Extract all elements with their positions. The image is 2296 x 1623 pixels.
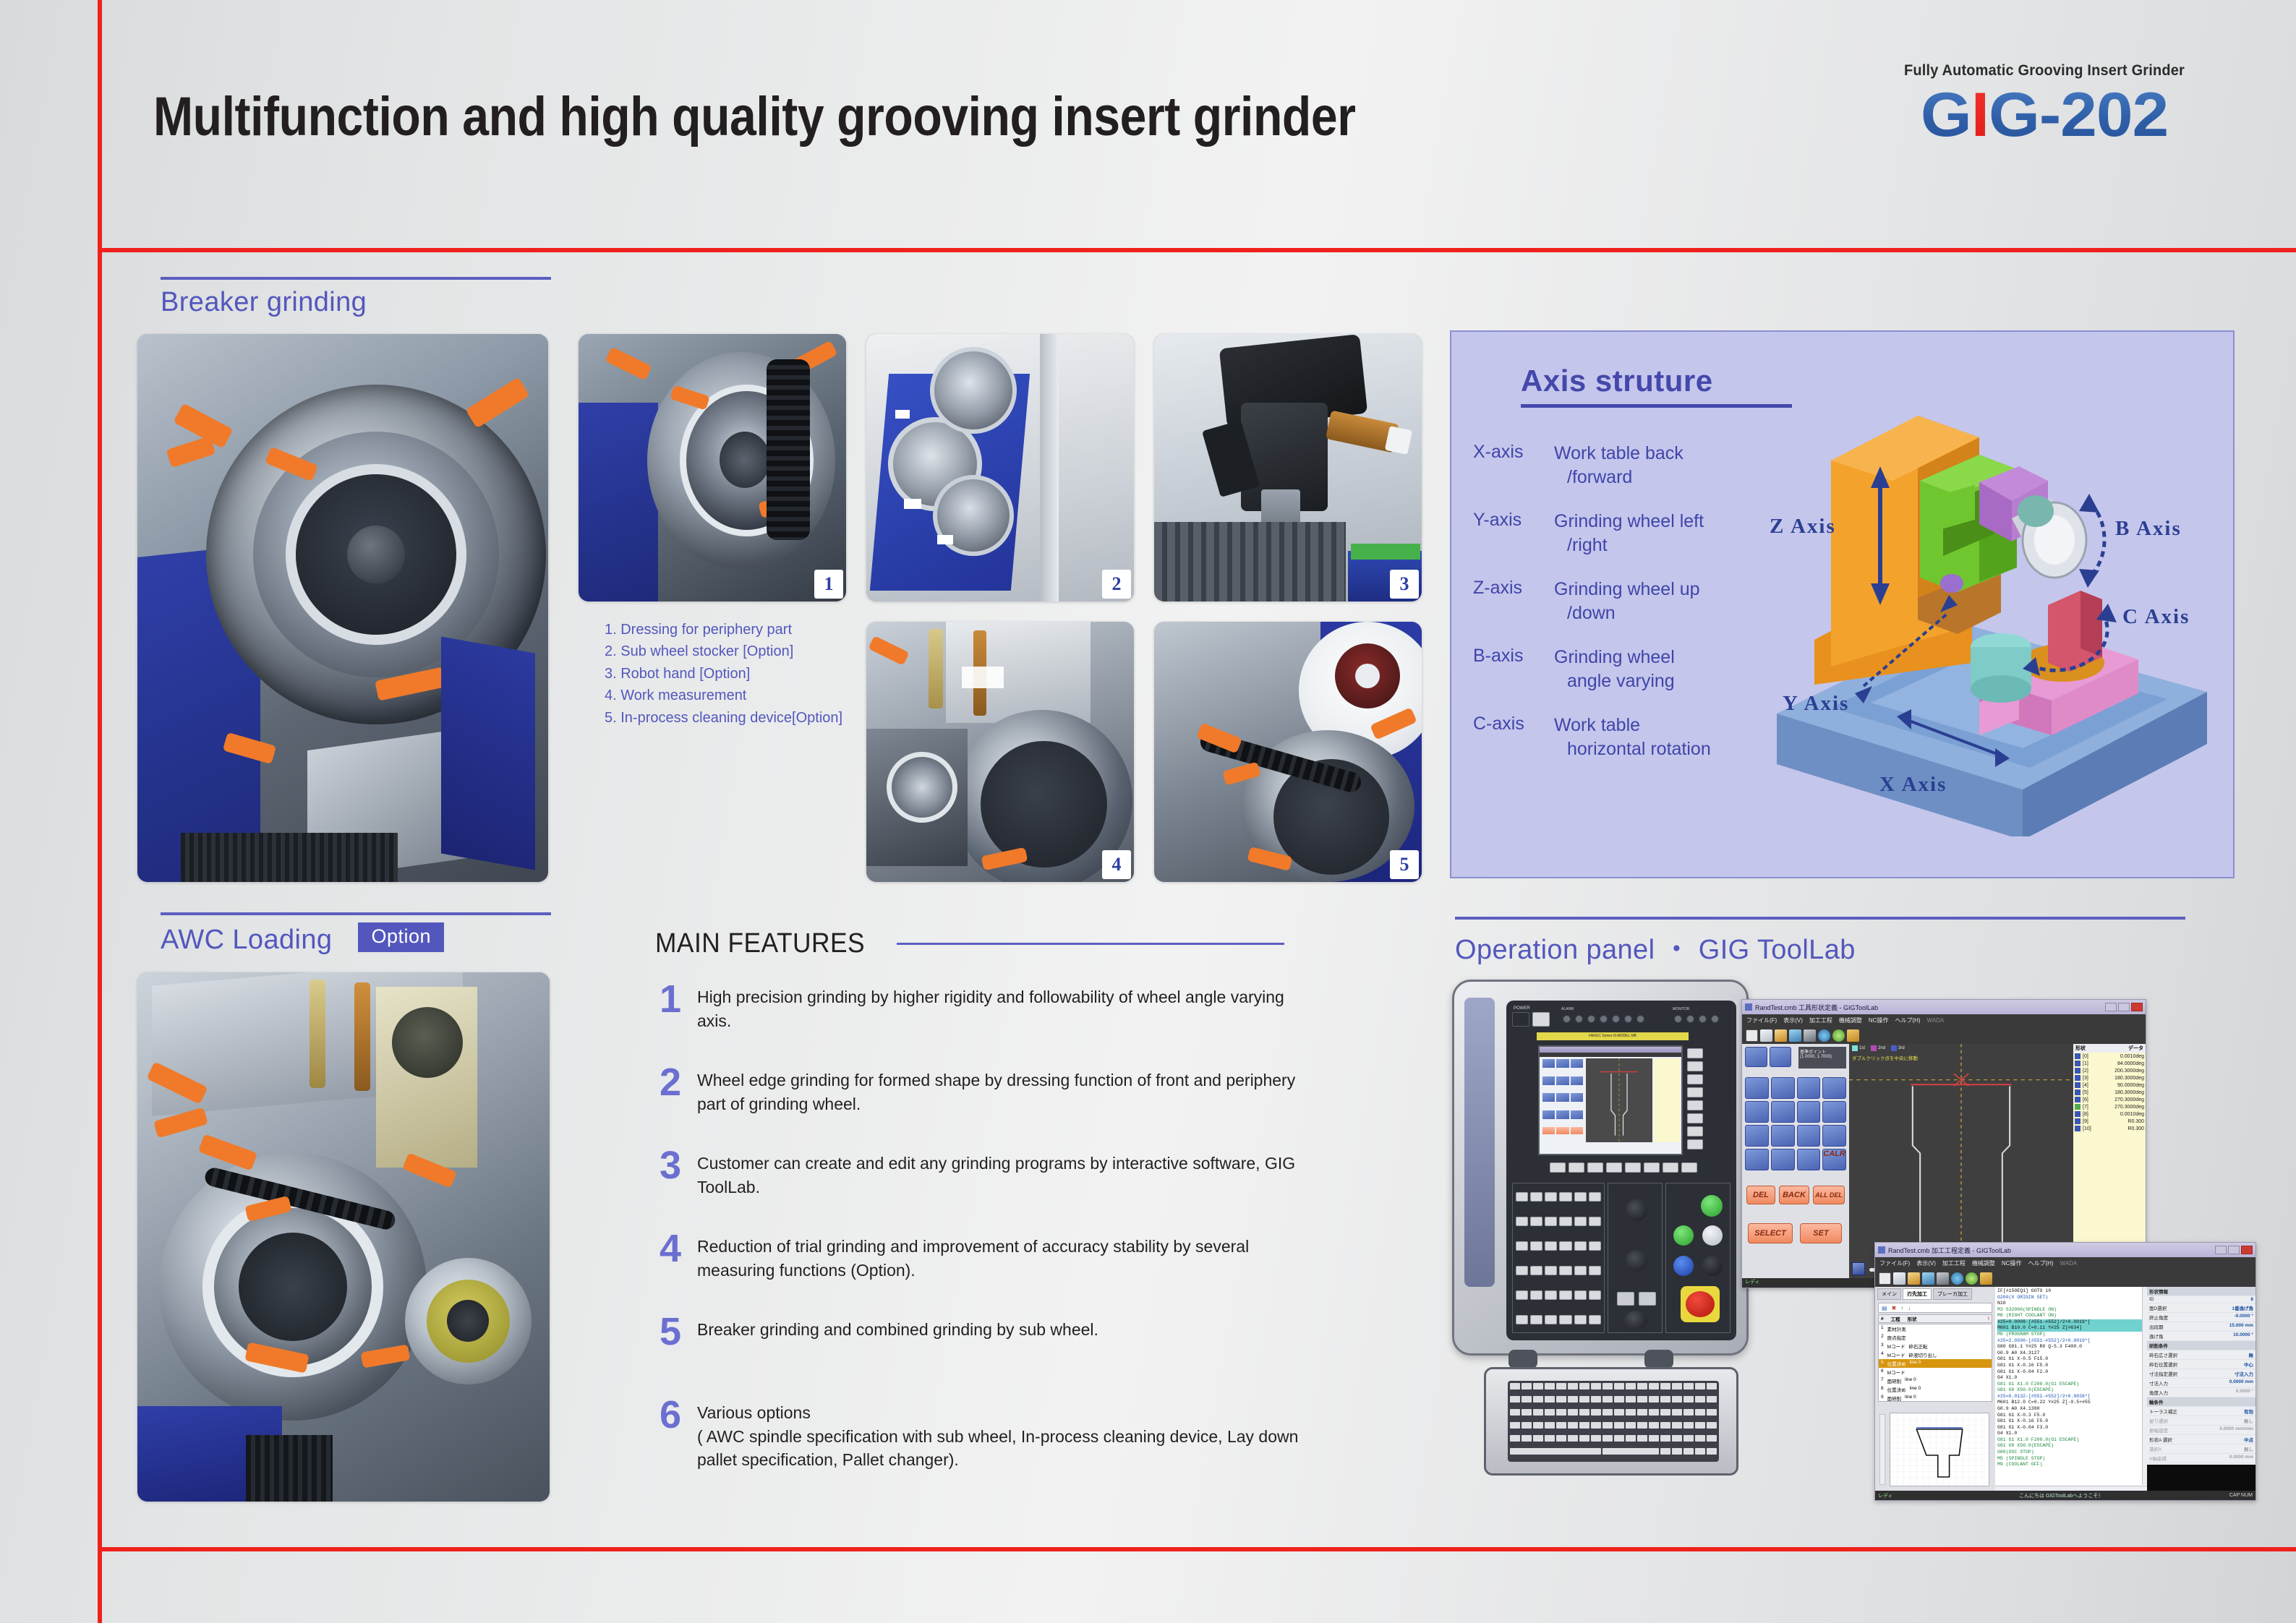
- console-key[interactable]: [1589, 1217, 1601, 1226]
- reset-button[interactable]: [1702, 1256, 1723, 1276]
- console-key[interactable]: [1545, 1217, 1557, 1226]
- section-rule: [161, 277, 551, 280]
- axis-value-y-l2: /right: [1554, 534, 1704, 557]
- property-row[interactable]: X軸座標0.0000 mm: [2147, 1454, 2256, 1463]
- photo-badge-4: 4: [1102, 850, 1131, 879]
- menu-nc-operation[interactable]: NC操作: [1869, 1016, 1889, 1024]
- reference-point-value: (1.0000, 1.7000): [1800, 1055, 1845, 1059]
- photo-badge-5: 5: [1390, 850, 1419, 879]
- process-row[interactable]: 7面研削line 0: [1879, 1376, 1992, 1385]
- shape-tool[interactable]: [1745, 1077, 1769, 1099]
- process-name: 位置決め: [1887, 1360, 1906, 1367]
- close-icon[interactable]: [2241, 1246, 2253, 1254]
- feature-item-3: 3 Customer can create and edit any grind…: [660, 1146, 1310, 1199]
- console-key[interactable]: [1516, 1266, 1528, 1275]
- shape-tool[interactable]: [1797, 1077, 1821, 1099]
- shape-tool[interactable]: [1745, 1149, 1769, 1170]
- softkey-bottom[interactable]: [1681, 1162, 1697, 1173]
- del-button[interactable]: DEL: [1746, 1186, 1775, 1204]
- feature-text-4: Reduction of trial grinding and improvem…: [697, 1229, 1310, 1282]
- console-key[interactable]: [1589, 1290, 1601, 1300]
- property-row[interactable]: 振幅速度0.0000 mm/min: [2147, 1426, 2256, 1435]
- property-grid[interactable]: 形状情報 ID8 面D選択1番逸げ角 終止角度-0.0000 ° 出段期15.0…: [2147, 1287, 2256, 1491]
- feature-number-1: 1: [660, 980, 697, 1032]
- maximize-icon[interactable]: [2118, 1003, 2130, 1011]
- code-line: G81 G1 X1.0 F200.0(G1 ESCAPE): [1997, 1437, 2145, 1444]
- code-vscrollbar[interactable]: [2142, 1287, 2147, 1485]
- code-line: G81 G1 X-0.3 F5.0: [1997, 1413, 2145, 1419]
- console-key[interactable]: [1516, 1290, 1528, 1300]
- axis-structure-title: Axis struture: [1521, 364, 1792, 398]
- close-icon[interactable]: [2131, 1003, 2143, 1011]
- process-num: 1: [1881, 1325, 1884, 1332]
- process-tabs[interactable]: メイン 刃先加工 ブレーカ加工: [1875, 1287, 1995, 1300]
- softkey[interactable]: [1687, 1126, 1703, 1136]
- shape-list-col-data: データ: [2128, 1045, 2143, 1052]
- section-rule-operation: [1455, 917, 2185, 920]
- property-preview-black: [2147, 1465, 2256, 1491]
- window2-toolbar[interactable]: [1875, 1269, 2256, 1287]
- status-center: こんにちは GIGToolLabへようこそ！: [1893, 1492, 2229, 1499]
- row-value: 200.3000deg: [2114, 1069, 2144, 1074]
- panel-side-strip: [1464, 998, 1495, 1287]
- code-line: G81 G1 X-0.16 F5.0: [1997, 1418, 2145, 1425]
- window1-titlebar[interactable]: RandTest.cmb 工具形状定義 - GIGToolLab: [1742, 1000, 2146, 1014]
- window2-titlebar[interactable]: RandTest.cmb 加工工程定義 - GIGToolLab: [1875, 1243, 2256, 1257]
- axis-value-b-l1: Grinding wheel: [1554, 647, 1675, 667]
- measure-icon[interactable]: [1789, 1029, 1801, 1042]
- diagram-label-b: B Axis: [2115, 517, 2182, 541]
- window2-body: メイン 刃先加工 ブレーカ加工 ▤ ✖ ↑ ↓ # 工程 形状 ! 1素材計測 …: [1875, 1287, 2256, 1491]
- shape-tool[interactable]: [1745, 1125, 1769, 1147]
- console-key[interactable]: [1574, 1192, 1587, 1202]
- process-row[interactable]: 1素材計測: [1879, 1324, 1992, 1333]
- nc-code-editor[interactable]: IF[#150EQ1] GOTO 10 G200(X ORIGIN SET) N…: [1995, 1287, 2147, 1491]
- code-line: M5 (SPINDLE STOP): [1997, 1456, 2145, 1463]
- edit-button-row[interactable]: DEL BACK ALL DEL: [1746, 1186, 1845, 1204]
- control-ready-lamp[interactable]: [1673, 1225, 1694, 1246]
- softkey-bottom[interactable]: [1663, 1162, 1678, 1173]
- refresh-icon[interactable]: [1818, 1029, 1830, 1042]
- console-key[interactable]: [1530, 1315, 1542, 1324]
- feature-item-2: 2 Wheel edge grinding for formed shape b…: [660, 1063, 1310, 1115]
- axis-row-y: Y-axis Grinding wheel left /right: [1473, 510, 1784, 557]
- property-row[interactable]: 面D選択1番逸げ角: [2147, 1303, 2256, 1313]
- axis-value-z-l2: /down: [1554, 601, 1700, 625]
- shape-list-row[interactable]: [9]R0.300: [2073, 1118, 2146, 1125]
- menu-file[interactable]: ファイル(F): [1746, 1016, 1777, 1024]
- process-edit-toolbar[interactable]: ▤ ✖ ↑ ↓: [1878, 1303, 1992, 1313]
- process-panel: メイン 刃先加工 ブレーカ加工 ▤ ✖ ↑ ↓ # 工程 形状 ! 1素材計測 …: [1875, 1287, 1995, 1491]
- code-line: G200(X ORIGIN SET): [1997, 1295, 2145, 1301]
- photo-caption-1: 1. Dressing for periphery part: [605, 619, 865, 641]
- frame-bottom-rule: [98, 1547, 2296, 1551]
- code-line: G81 G1 X-0.5 F15.0: [1997, 1356, 2145, 1363]
- console-key[interactable]: [1559, 1290, 1571, 1300]
- axis-value-b-l2: angle varying: [1554, 669, 1675, 693]
- back-button[interactable]: BACK: [1779, 1186, 1809, 1204]
- console-key[interactable]: [1574, 1217, 1587, 1226]
- shape-tool[interactable]: [1771, 1125, 1795, 1147]
- indicator-led: [1624, 1015, 1632, 1023]
- process-sub: 砕液切り出し: [1909, 1351, 1937, 1358]
- shape-list-row[interactable]: [10]R0.300: [2073, 1125, 2146, 1132]
- shape-list-row[interactable]: [5]180.3000deg: [2073, 1089, 2146, 1096]
- refresh-icon[interactable]: [1951, 1272, 1963, 1285]
- property-value: 0.0000 mm/min: [2219, 1426, 2253, 1434]
- shape-list-row[interactable]: [0]0.0010deg: [2073, 1053, 2146, 1060]
- section-title-operation: Operation panel ・ GIG ToolLab: [1455, 927, 2185, 967]
- property-group-label: 形状情報: [2149, 1288, 2168, 1295]
- console-key[interactable]: [1516, 1241, 1528, 1251]
- shape-tool-arc[interactable]: [1745, 1047, 1767, 1067]
- shape-tool[interactable]: [1745, 1101, 1769, 1123]
- gigtoollab-window-process-definition[interactable]: RandTest.cmb 加工工程定義 - GIGToolLab ファイル(F)…: [1874, 1242, 2256, 1501]
- tab-breaker-machining[interactable]: ブレーカ加工: [1933, 1288, 1972, 1300]
- photo-badge-2: 2: [1102, 570, 1131, 599]
- menu-file[interactable]: ファイル(F): [1879, 1259, 1910, 1267]
- property-key: ID: [2149, 1297, 2154, 1302]
- photo-badge-1: 1: [814, 570, 843, 599]
- run-icon[interactable]: [1832, 1029, 1845, 1042]
- softkey[interactable]: [1687, 1100, 1703, 1110]
- preview-scrollbar[interactable]: [1879, 1414, 1885, 1485]
- logo-i: I: [1971, 80, 1989, 150]
- window1-title: RandTest.cmb 工具形状定義 - GIGToolLab: [1755, 1003, 1878, 1012]
- plus-button[interactable]: [1639, 1292, 1656, 1306]
- all-del-button[interactable]: ALL DEL: [1813, 1186, 1845, 1204]
- property-value: -0.0000 °: [2235, 1314, 2253, 1321]
- axis-value-x-l2: /forward: [1554, 466, 1683, 489]
- tab-edge-machining[interactable]: 刃先加工: [1903, 1288, 1932, 1300]
- console-key[interactable]: [1530, 1290, 1542, 1300]
- window1-toolbar[interactable]: [1742, 1027, 2146, 1044]
- shape-tool[interactable]: [1771, 1077, 1795, 1099]
- console-key[interactable]: [1589, 1315, 1601, 1324]
- property-value: 8: [2250, 1297, 2253, 1302]
- shape-tool[interactable]: [1797, 1125, 1821, 1147]
- property-row[interactable]: 形状A 選択中点: [2147, 1435, 2256, 1444]
- photo-thumb-2: 2: [866, 334, 1134, 601]
- shape-tool[interactable]: [1822, 1125, 1846, 1147]
- section-header-awc-loading: AWC LoadingOption: [161, 912, 551, 956]
- process-row[interactable]: 2原点指定: [1879, 1333, 1992, 1342]
- property-row[interactable]: 逸げ角10.0000 °: [2147, 1332, 2256, 1341]
- cycle-start-button[interactable]: [1701, 1195, 1723, 1217]
- menu-view[interactable]: 表示(V): [1916, 1259, 1936, 1267]
- process-list[interactable]: 1素材計測 2原点指定 3Mコード砕石正転 4Mコード砕液切り出し 5位置決めl…: [1878, 1324, 1992, 1402]
- console-key[interactable]: [1516, 1217, 1528, 1226]
- indicator-led: [1686, 1015, 1694, 1023]
- shape-tool[interactable]: [1797, 1101, 1821, 1123]
- property-row[interactable]: トーラス補正有効: [2147, 1407, 2256, 1416]
- process-num: 5: [1881, 1360, 1884, 1367]
- reference-point-label: 基準ポイント: [1800, 1048, 1845, 1055]
- softkey[interactable]: [1687, 1061, 1703, 1071]
- shape-list-row[interactable]: [7]270.3000deg: [2073, 1103, 2146, 1110]
- console-key[interactable]: [1589, 1241, 1601, 1251]
- reference-point-readout: 基準ポイント (1.0000, 1.7000): [1798, 1047, 1846, 1069]
- console-key[interactable]: [1589, 1192, 1601, 1202]
- console-key[interactable]: [1559, 1241, 1571, 1251]
- row-index: [2]: [2083, 1069, 2088, 1074]
- axis-row-c: C-axis Work table horizontal rotation: [1473, 714, 1784, 761]
- calr-button[interactable]: CALR: [1822, 1149, 1846, 1170]
- console-key[interactable]: [1530, 1192, 1542, 1202]
- feed-hold-button[interactable]: [1702, 1225, 1723, 1246]
- logo-tagline: Fully Automatic Grooving Insert Grinder: [1866, 62, 2223, 80]
- console-key[interactable]: [1530, 1266, 1542, 1275]
- window1-controls[interactable]: [2105, 1003, 2143, 1011]
- feature-text-5: Breaker grinding and combined grinding b…: [697, 1312, 1098, 1351]
- softkey[interactable]: [1687, 1139, 1703, 1149]
- indicator-led: [1575, 1015, 1583, 1023]
- code-hscrollbar[interactable]: [1995, 1486, 2147, 1491]
- new-icon[interactable]: ▤: [1882, 1305, 1887, 1311]
- shape-tool[interactable]: [1822, 1101, 1846, 1123]
- axis-structure-underline: [1521, 404, 1792, 408]
- col-alert: !: [1988, 1316, 1989, 1322]
- menu-help[interactable]: ヘルプ(H): [2028, 1259, 2053, 1267]
- feature-item-5: 5 Breaker grinding and combined grinding…: [660, 1312, 1310, 1351]
- menu-machine-adjust[interactable]: 機械調整: [1839, 1016, 1862, 1024]
- logo-g1: G: [1921, 80, 1971, 150]
- row-index: [1]: [2083, 1061, 2088, 1066]
- keyboard[interactable]: [1508, 1381, 1719, 1462]
- property-row[interactable]: 選択X無し: [2147, 1444, 2256, 1454]
- property-row[interactable]: 砕石位置選択中心: [2147, 1360, 2256, 1369]
- photo-caption-4: 4. Work measurement: [605, 685, 865, 706]
- power-on-button[interactable]: [1512, 1012, 1529, 1027]
- shape-list-row[interactable]: [3]180.3000deg: [2073, 1074, 2146, 1082]
- document-icon[interactable]: [1760, 1029, 1772, 1042]
- shape-tool[interactable]: [1771, 1149, 1795, 1170]
- process-row-selected[interactable]: 5位置決めline 0: [1879, 1359, 1992, 1368]
- shape-list-row[interactable]: [8]0.0010deg: [2073, 1110, 2146, 1118]
- feature-item-6: 6 Various options ( AWC spindle specific…: [660, 1395, 1310, 1472]
- property-row[interactable]: 寸法入力0.0000 mm: [2147, 1379, 2256, 1388]
- document-icon[interactable]: [1893, 1272, 1905, 1285]
- menu-process[interactable]: 加工工程: [1809, 1016, 1832, 1024]
- camera-icon[interactable]: [1937, 1272, 1949, 1285]
- menu-view[interactable]: 表示(V): [1783, 1016, 1803, 1024]
- console-key[interactable]: [1530, 1241, 1542, 1251]
- console-key[interactable]: [1545, 1241, 1557, 1251]
- shape-tool[interactable]: [1797, 1149, 1821, 1170]
- console-key[interactable]: [1545, 1192, 1557, 1202]
- softkey[interactable]: [1687, 1087, 1703, 1097]
- menu-help[interactable]: ヘルプ(H): [1895, 1016, 1920, 1024]
- move-down-icon[interactable]: ↓: [1908, 1305, 1911, 1311]
- axis-row-z: Z-axis Grinding wheel up /down: [1473, 578, 1784, 625]
- shape-list-row[interactable]: [4]90.0000deg: [2073, 1082, 2146, 1089]
- row-value: 0.0010deg: [2120, 1112, 2144, 1117]
- code-line: M0 (PROGRAM STOP): [1997, 1332, 2145, 1338]
- folder-icon[interactable]: [1847, 1029, 1859, 1042]
- feature-text-3: Customer can create and edit any grindin…: [697, 1146, 1310, 1199]
- property-key: 出段期: [2149, 1323, 2164, 1330]
- process-sub: line 0: [1905, 1395, 1916, 1402]
- softkey-bottom[interactable]: [1550, 1162, 1566, 1173]
- save-icon[interactable]: [1746, 1029, 1758, 1042]
- cnc-display[interactable]: [1538, 1045, 1683, 1155]
- softkey-bottom[interactable]: [1606, 1162, 1622, 1173]
- process-num: 2: [1881, 1334, 1884, 1341]
- console-key[interactable]: [1559, 1315, 1571, 1324]
- code-line: G81 G1 X-0.16 F5.0: [1997, 1363, 2145, 1369]
- power-off-button[interactable]: [1532, 1012, 1550, 1027]
- shape-tool-grid[interactable]: CALR: [1742, 1074, 1849, 1173]
- console-key[interactable]: [1516, 1315, 1528, 1324]
- row-value: 90.0000deg: [2117, 1083, 2144, 1088]
- softkey-bottom[interactable]: [1569, 1162, 1584, 1173]
- property-key: 砕石広さ選択: [2149, 1351, 2177, 1358]
- console-key[interactable]: [1516, 1192, 1528, 1202]
- save-icon[interactable]: [1879, 1272, 1891, 1285]
- menu-process[interactable]: 加工工程: [1942, 1259, 1966, 1267]
- code-line: M9 (COOLANT OFF): [1997, 1462, 2145, 1468]
- console-key[interactable]: [1545, 1266, 1557, 1275]
- property-row[interactable]: 砕石広さ選択無: [2147, 1350, 2256, 1360]
- shape-tool-corner[interactable]: [1770, 1047, 1792, 1067]
- all-origin-button[interactable]: [1673, 1256, 1694, 1276]
- console-key[interactable]: [1559, 1266, 1571, 1275]
- console-key[interactable]: [1530, 1217, 1542, 1226]
- edit-icon[interactable]: [1775, 1029, 1787, 1042]
- property-group: 軸条件: [2147, 1397, 2256, 1407]
- row-index: [6]: [2083, 1097, 2088, 1102]
- keypad-block: [1512, 1183, 1605, 1333]
- folder-icon[interactable]: [1980, 1272, 1992, 1285]
- photo-thumb-5: 5: [1154, 622, 1422, 882]
- photo-caption-2: 2. Sub wheel stocker [Option]: [605, 641, 865, 662]
- property-value: 0.0000 mm: [2229, 1379, 2253, 1387]
- row-index: [0]: [2083, 1054, 2088, 1059]
- process-row[interactable]: 8位置決めline 0: [1879, 1385, 1992, 1394]
- property-value: 1番逸げ角: [2232, 1304, 2253, 1311]
- mode-rotary-switch[interactable]: [1626, 1199, 1647, 1221]
- console-key[interactable]: [1589, 1266, 1601, 1275]
- axis-value-c-l2: horizontal rotation: [1554, 737, 1711, 761]
- process-row[interactable]: 9面研削line 0: [1879, 1394, 1992, 1402]
- maximize-icon[interactable]: [2228, 1246, 2240, 1254]
- monitor-label: MONITOR: [1673, 1007, 1690, 1011]
- photo-caption-5: 5. In-process cleaning device[Option]: [605, 707, 865, 729]
- property-row[interactable]: ID8: [2147, 1296, 2256, 1303]
- property-row[interactable]: 終止角度-0.0000 °: [2147, 1313, 2256, 1322]
- run-icon[interactable]: [1966, 1272, 1978, 1285]
- frame-top-rule: [98, 248, 2296, 252]
- status-left: レディ: [1878, 1492, 1893, 1499]
- console-key[interactable]: [1559, 1217, 1571, 1226]
- set-button[interactable]: SET: [1800, 1223, 1842, 1243]
- process-row[interactable]: 3Mコード砕石正転: [1879, 1342, 1992, 1350]
- property-group: 研削条件: [2147, 1341, 2256, 1350]
- window2-controls[interactable]: [2215, 1246, 2253, 1254]
- emergency-stop-button[interactable]: [1686, 1291, 1715, 1317]
- process-sub: 砕石正転: [1909, 1342, 1928, 1350]
- move-up-icon[interactable]: ↑: [1900, 1305, 1903, 1311]
- code-line: G81 G0 X50.0(ESCAPE): [1997, 1443, 2145, 1449]
- axis-value-c: Work table horizontal rotation: [1554, 714, 1711, 761]
- code-line: G0.9 A0 X4.3127: [1997, 1350, 2145, 1357]
- window1-menubar[interactable]: ファイル(F) 表示(V) 加工工程 機械調整 NC操作 ヘルプ(H) WADA: [1742, 1014, 2146, 1027]
- menu-user: WADA: [1927, 1017, 1945, 1024]
- property-row[interactable]: 振り選択無し: [2147, 1416, 2256, 1426]
- console-key[interactable]: [1559, 1192, 1571, 1202]
- main-features-header: MAIN FEATURES: [655, 928, 1284, 959]
- shape-tool[interactable]: [1822, 1077, 1846, 1099]
- shape-tool-palette[interactable]: 基準ポイント (1.0000, 1.7000) CALR DEL BACK AL…: [1742, 1044, 1849, 1278]
- process-row[interactable]: 6Mコード: [1879, 1368, 1992, 1376]
- process-name: Mコード: [1887, 1369, 1905, 1376]
- window2-menubar[interactable]: ファイル(F) 表示(V) 加工工程 機械調整 NC操作 ヘルプ(H) WADA: [1875, 1257, 2256, 1269]
- code-line: G4 X1.0: [1997, 1431, 2145, 1437]
- select-button[interactable]: SELECT: [1748, 1223, 1793, 1243]
- process-num: 9: [1881, 1395, 1884, 1402]
- console-key[interactable]: [1574, 1266, 1587, 1275]
- minimize-icon[interactable]: [2215, 1246, 2227, 1254]
- measure-icon[interactable]: [1922, 1272, 1934, 1285]
- minus-button[interactable]: [1617, 1292, 1634, 1306]
- menu-machine-adjust[interactable]: 機械調整: [1972, 1259, 1995, 1267]
- tab-main[interactable]: メイン: [1877, 1288, 1901, 1300]
- console-key[interactable]: [1545, 1315, 1557, 1324]
- softkey[interactable]: [1687, 1074, 1703, 1084]
- pulse-handle-dial[interactable]: [1624, 1311, 1647, 1330]
- canvas-fit-button[interactable]: [1852, 1262, 1865, 1275]
- softkey-bottom[interactable]: [1587, 1162, 1603, 1173]
- section-header-operation-panel: Operation panel ・ GIG ToolLab: [1455, 917, 2185, 967]
- app-icon: [1745, 1003, 1752, 1011]
- console-key[interactable]: [1545, 1290, 1557, 1300]
- code-line: G81 G1 X-0.04 F3.0: [1997, 1425, 2145, 1431]
- property-row[interactable]: 寸法指定選択寸法入力: [2147, 1369, 2256, 1379]
- menu-nc-operation[interactable]: NC操作: [2002, 1259, 2022, 1267]
- property-key: 振幅速度: [2149, 1426, 2168, 1434]
- softkey[interactable]: [1687, 1048, 1703, 1058]
- cnc-nameplate: FANUC Series 0i-MODEL MB: [1537, 1032, 1689, 1040]
- console-key[interactable]: [1574, 1290, 1587, 1300]
- axis-key-c: C-axis: [1473, 714, 1554, 761]
- feed-override-dial[interactable]: [1626, 1250, 1647, 1272]
- delete-icon[interactable]: ✖: [1892, 1305, 1897, 1311]
- minimize-icon[interactable]: [2105, 1003, 2117, 1011]
- edit-icon[interactable]: [1908, 1272, 1920, 1285]
- property-value: 無し: [2244, 1445, 2253, 1452]
- shape-list-row[interactable]: [2]200.3000deg: [2073, 1067, 2146, 1074]
- process-num: 4: [1881, 1351, 1884, 1358]
- shape-list-row[interactable]: [1]84.0000deg: [2073, 1060, 2146, 1067]
- cycle-button-block: [1665, 1183, 1730, 1333]
- process-num: 7: [1881, 1377, 1884, 1384]
- shape-tool[interactable]: [1771, 1101, 1795, 1123]
- console-key[interactable]: [1574, 1315, 1587, 1324]
- shape-list-row[interactable]: [6]270.3000deg: [2073, 1096, 2146, 1103]
- camera-icon[interactable]: [1804, 1029, 1816, 1042]
- confirm-button-row[interactable]: SELECT SET: [1748, 1223, 1842, 1243]
- softkey-bottom[interactable]: [1625, 1162, 1641, 1173]
- row-value: 180.3000deg: [2114, 1076, 2144, 1081]
- indicator-led: [1612, 1015, 1620, 1023]
- softkey-bottom[interactable]: [1644, 1162, 1660, 1173]
- console-key[interactable]: [1574, 1241, 1587, 1251]
- property-row[interactable]: 角度入力0.0000 °: [2147, 1388, 2256, 1397]
- process-row[interactable]: 4Mコード砕液切り出し: [1879, 1350, 1992, 1359]
- property-row[interactable]: 出段期15.000 mm: [2147, 1322, 2256, 1332]
- process-name: 素材計測: [1887, 1325, 1906, 1332]
- softkey[interactable]: [1687, 1113, 1703, 1123]
